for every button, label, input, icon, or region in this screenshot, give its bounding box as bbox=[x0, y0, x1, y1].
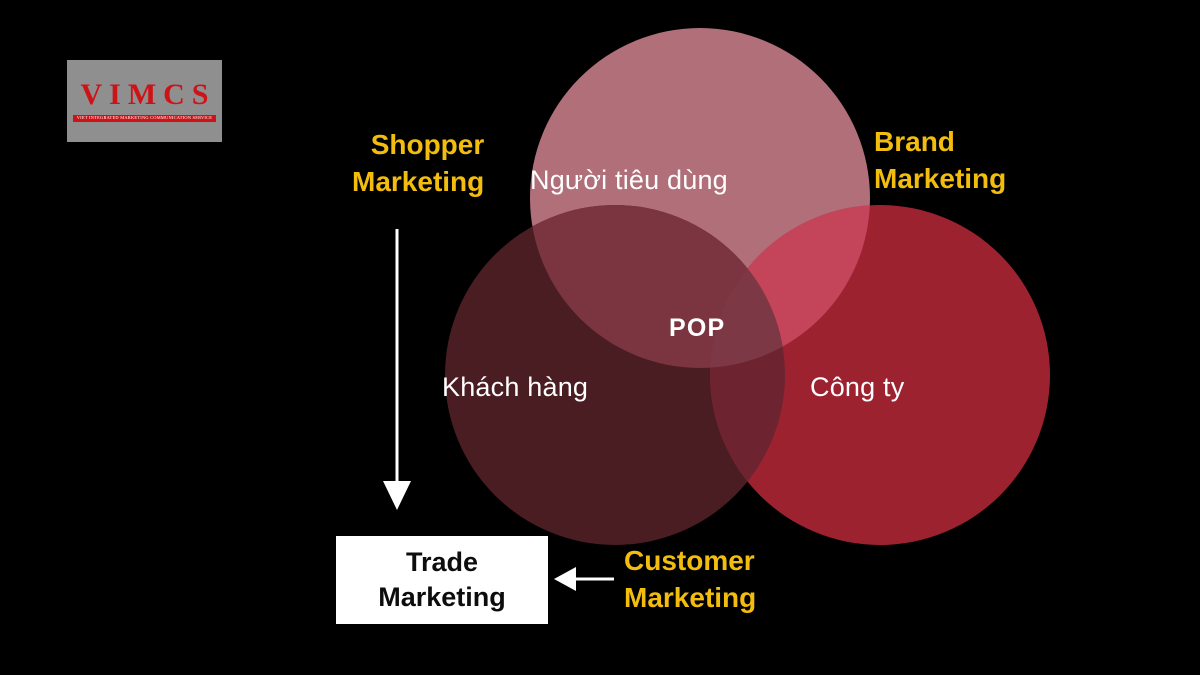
callout-brand-line2: Marketing bbox=[874, 161, 1006, 198]
trade-marketing-line1: Trade bbox=[378, 545, 506, 580]
trade-marketing-line2: Marketing bbox=[378, 580, 506, 615]
callout-shopper-marketing: Shopper Marketing bbox=[352, 127, 484, 201]
callout-customer-line2: Marketing bbox=[624, 580, 756, 617]
callout-customer-line1: Customer bbox=[624, 543, 756, 580]
callout-shopper-line1: Shopper bbox=[352, 127, 484, 164]
vimcs-logo: VIMCS VIET INTEGRATED MARKETING COMMUNIC… bbox=[67, 60, 222, 142]
callout-customer-marketing: Customer Marketing bbox=[624, 543, 756, 617]
logo-wordmark: VIMCS bbox=[73, 80, 215, 110]
venn-circles bbox=[420, 20, 1070, 565]
circle-label-company: Công ty bbox=[810, 372, 904, 403]
circle-label-consumer: Người tiêu dùng bbox=[530, 165, 728, 196]
arrow-left-icon bbox=[552, 565, 618, 593]
venn-diagram: Người tiêu dùng Khách hàng Công ty POP bbox=[420, 20, 1070, 565]
arrow-down-icon bbox=[380, 225, 414, 515]
callout-brand-line1: Brand bbox=[874, 124, 1006, 161]
trade-marketing-text: Trade Marketing bbox=[378, 545, 506, 615]
trade-marketing-box: Trade Marketing bbox=[336, 536, 548, 624]
circle-label-customer: Khách hàng bbox=[442, 372, 588, 403]
diagram-canvas: VIMCS VIET INTEGRATED MARKETING COMMUNIC… bbox=[0, 0, 1200, 675]
callout-shopper-line2: Marketing bbox=[352, 164, 484, 201]
logo-tagline: VIET INTEGRATED MARKETING COMMUNICATION … bbox=[73, 115, 216, 122]
circle-label-pop: POP bbox=[669, 314, 725, 343]
callout-brand-marketing: Brand Marketing bbox=[874, 124, 1006, 198]
